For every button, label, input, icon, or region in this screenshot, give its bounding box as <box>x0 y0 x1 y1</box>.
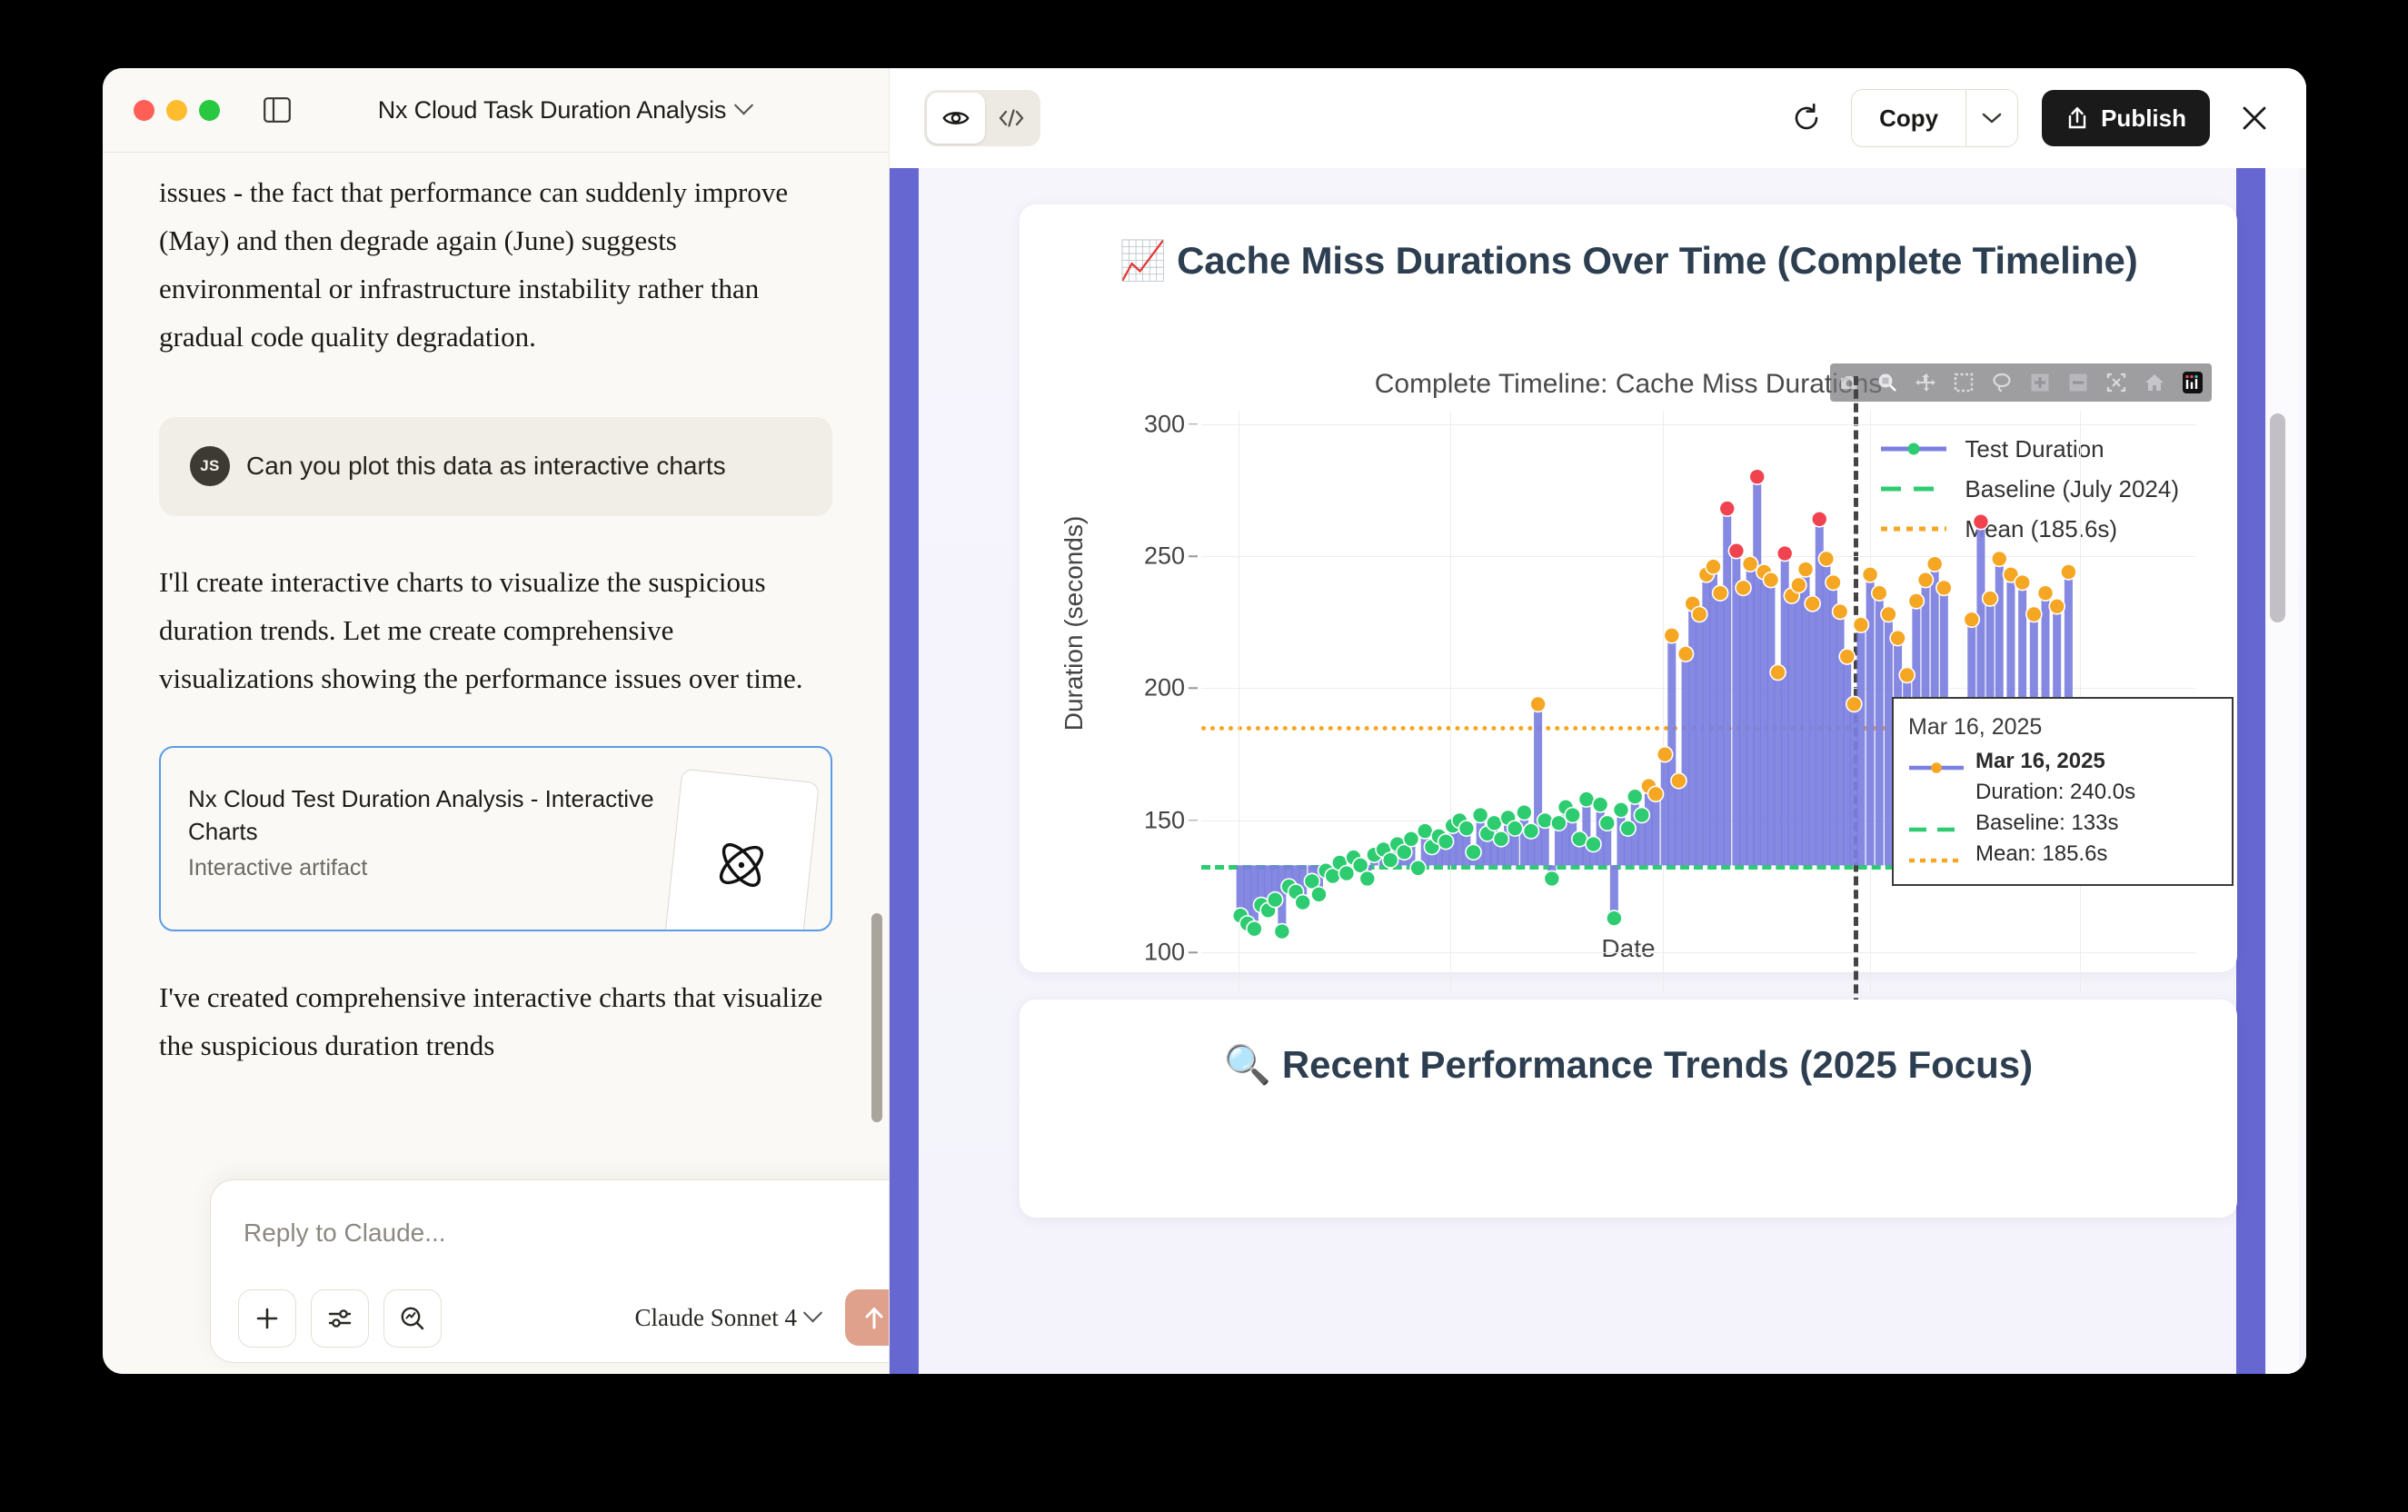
plus-icon <box>254 1306 280 1331</box>
chat-pane: Nx Cloud Task Duration Analysis issues -… <box>103 68 890 1374</box>
chevron-down-icon <box>1982 112 2002 124</box>
conversation-title-text: Nx Cloud Task Duration Analysis <box>378 96 726 124</box>
share-icon <box>2065 105 2089 131</box>
box-select-icon[interactable] <box>1952 371 1975 394</box>
copy-button-group: Copy <box>1851 89 2018 147</box>
recent-trends-card: 🔍 Recent Performance Trends (2025 Focus) <box>1020 1000 2237 1218</box>
chart-emoji-icon: 📈 <box>1119 239 1166 282</box>
maximize-window-button[interactable] <box>199 100 220 121</box>
tab-code[interactable] <box>985 93 1038 144</box>
close-icon <box>2240 104 2269 133</box>
y-axis-tick-mark <box>1189 423 1198 425</box>
plotly-logo-icon[interactable] <box>2181 371 2204 394</box>
autoscale-icon[interactable] <box>2105 371 2128 394</box>
tooltip-point-label: Mar 16, 2025 <box>1975 749 2105 773</box>
y-axis-tick: 200 <box>1144 674 1185 702</box>
decorative-right-rail <box>2236 168 2265 1374</box>
y-axis-tick-mark <box>1189 820 1198 821</box>
y-axis-tick: 300 <box>1144 410 1185 438</box>
chart-card: 📈 Cache Miss Durations Over Time (Comple… <box>1020 204 2237 972</box>
atom-icon <box>705 829 777 900</box>
sidebar-toggle-icon[interactable] <box>260 93 294 127</box>
research-icon <box>399 1305 426 1332</box>
tooltip-mean-value: Mean: 185.6s <box>1975 839 2107 870</box>
user-message-text: Can you plot this data as interactive ch… <box>246 443 726 489</box>
send-button[interactable] <box>845 1289 890 1346</box>
reset-axes-home-icon[interactable] <box>2143 371 2166 394</box>
chevron-down-icon <box>803 1303 822 1322</box>
refresh-icon <box>1791 103 1822 134</box>
chart-tooltip: Mar 16, 2025 Mar 16, 2025 Duration: 240.… <box>1892 697 2234 886</box>
artifact-canvas: 📈 Cache Miss Durations Over Time (Comple… <box>890 168 2306 1374</box>
settings-button[interactable] <box>311 1289 369 1348</box>
window-titlebar: Nx Cloud Task Duration Analysis <box>103 68 889 153</box>
reply-input[interactable]: Reply to Claude... <box>244 1219 446 1248</box>
artifact-scroll-track[interactable] <box>2266 168 2299 1374</box>
y-axis-tick: 150 <box>1144 806 1185 834</box>
eye-icon <box>942 108 970 128</box>
y-axis-tick-mark <box>1189 952 1198 954</box>
pan-icon[interactable] <box>1914 371 1937 394</box>
tooltip-header: Mar 16, 2025 <box>1908 711 2217 742</box>
recent-trends-heading-text: Recent Performance Trends (2025 Focus) <box>1282 1043 2033 1086</box>
assistant-message: issues - the fact that performance can s… <box>103 152 889 361</box>
chevron-down-icon <box>734 95 753 114</box>
toolbar-actions: Copy Publish <box>1786 89 2275 147</box>
tab-preview[interactable] <box>927 93 985 144</box>
close-window-button[interactable] <box>134 100 154 121</box>
chat-scrollbar[interactable] <box>871 913 882 1122</box>
artifact-card-subtitle: Interactive artifact <box>188 855 367 881</box>
artifact-thumbnail <box>663 769 820 931</box>
plot-canvas: Test Duration Baseline (July 2024) <box>1201 411 2195 992</box>
decorative-left-rail <box>890 168 919 1374</box>
artifact-card[interactable]: Nx Cloud Test Duration Analysis - Intera… <box>159 746 832 931</box>
model-selector[interactable]: Claude Sonnet 4 <box>635 1304 820 1332</box>
close-artifact-button[interactable] <box>2234 97 2275 139</box>
send-arrow-icon <box>861 1304 887 1331</box>
plotly-modebar <box>1830 363 2212 402</box>
zoom-icon[interactable] <box>1876 371 1899 394</box>
sliders-icon <box>326 1306 353 1331</box>
screenshot-root: Nx Cloud Task Duration Analysis issues -… <box>0 0 2408 1512</box>
zoom-in-icon[interactable] <box>2028 371 2052 394</box>
tooltip-row: Baseline: 133s <box>1908 808 2217 839</box>
artifact-pane: Copy Publish <box>890 68 2306 1374</box>
tooltip-swatch-baseline <box>1908 821 1965 839</box>
chart-section-heading: 📈 Cache Miss Durations Over Time (Comple… <box>1020 204 2237 290</box>
chart-section-heading-text: Cache Miss Durations Over Time (Complete… <box>1177 239 2137 282</box>
code-icon <box>998 107 1025 129</box>
zoom-out-icon[interactable] <box>2066 371 2090 394</box>
refresh-button[interactable] <box>1786 97 1827 139</box>
y-axis-tick: 100 <box>1144 939 1185 967</box>
app-window: Nx Cloud Task Duration Analysis issues -… <box>103 68 2306 1374</box>
tooltip-row: Mar 16, 2025 Duration: 240.0s <box>1908 746 2217 808</box>
model-selector-label: Claude Sonnet 4 <box>635 1304 797 1332</box>
research-button[interactable] <box>383 1289 442 1348</box>
attach-button[interactable] <box>238 1289 296 1348</box>
tooltip-baseline-value: Baseline: 133s <box>1975 808 2118 839</box>
y-axis-tick-mark <box>1189 688 1198 690</box>
recent-trends-heading: 🔍 Recent Performance Trends (2025 Focus) <box>1020 1000 2237 1088</box>
message-composer: Reply to Claude... <box>210 1179 890 1363</box>
y-axis-tick-mark <box>1189 555 1198 557</box>
copy-dropdown-button[interactable] <box>1965 90 2017 146</box>
publish-button-label: Publish <box>2101 104 2186 133</box>
tooltip-swatch-duration <box>1908 759 1965 777</box>
conversation-title[interactable]: Nx Cloud Task Duration Analysis <box>294 96 834 124</box>
view-mode-toggle <box>924 90 1040 146</box>
minimize-window-button[interactable] <box>166 100 187 121</box>
tooltip-row: Mean: 185.6s <box>1908 839 2217 870</box>
copy-button[interactable]: Copy <box>1852 90 1965 146</box>
tooltip-duration-block: Mar 16, 2025 Duration: 240.0s <box>1975 746 2135 808</box>
user-message-bubble: JS Can you plot this data as interactive… <box>159 417 832 516</box>
avatar: JS <box>190 446 230 486</box>
artifact-toolbar: Copy Publish <box>890 68 2306 168</box>
publish-button[interactable]: Publish <box>2042 90 2210 146</box>
lasso-select-icon[interactable] <box>1990 371 2014 394</box>
y-axis-tick: 250 <box>1144 542 1185 571</box>
artifact-scroll-thumb[interactable] <box>2270 413 2285 622</box>
magnifier-emoji-icon: 🔍 <box>1224 1043 1271 1086</box>
artifact-card-title: Nx Cloud Test Duration Analysis - Intera… <box>188 782 670 848</box>
assistant-message: I've created comprehensive interactive c… <box>103 931 889 1069</box>
y-axis-label: Duration (seconds) <box>1060 451 1089 796</box>
assistant-message: I'll create interactive charts to visual… <box>103 516 889 702</box>
traffic-lights <box>134 100 220 121</box>
plotly-figure: Complete Timeline: Cache Miss Durations <box>1020 363 2237 972</box>
tooltip-swatch-mean <box>1908 851 1965 870</box>
tooltip-duration-value: Duration: 240.0s <box>1975 780 2135 804</box>
